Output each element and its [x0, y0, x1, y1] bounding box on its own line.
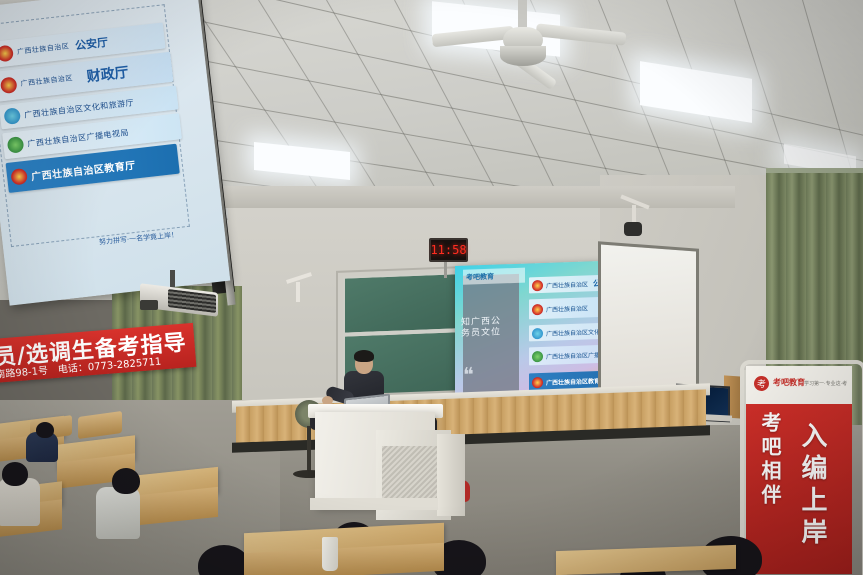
national-emblem-icon: [532, 376, 543, 387]
ceiling-fan-stem: [518, 0, 527, 30]
agency-name: 财政厅: [86, 62, 130, 87]
banner-slogan-right: 入编上岸: [794, 422, 831, 550]
slide-sidebar-title: 知广西公务员文位: [461, 316, 507, 340]
agency-name: 广西壮族自治区教育厅: [30, 156, 136, 183]
lecture-hall-photo: 广西壮族自治区 公安厅 广西壮族自治区 财政厅 广西壮族自治区文化和旅游厅 广西…: [0, 0, 863, 575]
wall-hook-post: [296, 282, 300, 302]
national-emblem-icon: [0, 76, 18, 94]
student-head: [36, 422, 54, 438]
banner-body: 考吧相伴 入编上岸: [746, 404, 852, 574]
agency-small-text: 广西壮族自治区: [546, 279, 588, 289]
agency-name: 广西壮族自治区广播电视局: [27, 127, 130, 149]
radio-tv-logo-icon: [532, 350, 543, 361]
quote-mark-icon: ❝: [463, 369, 474, 381]
brand-logo-icon: 考: [754, 376, 769, 391]
presenter-hair: [354, 350, 374, 362]
ceiling-fan-cap: [500, 46, 546, 66]
tourism-logo-icon: [532, 327, 543, 338]
national-emblem-icon: [0, 45, 14, 63]
podium-cabinet-side: [437, 434, 465, 516]
agency-name: 公安厅: [74, 34, 109, 54]
radio-tv-logo-icon: [7, 136, 25, 154]
national-emblem-icon: [532, 279, 543, 290]
brand-tagline: 学习第一·专业这·考: [804, 380, 847, 387]
projector-lens-icon: [140, 300, 158, 310]
student-head: [112, 468, 140, 494]
national-emblem-icon: [10, 168, 28, 186]
paper-cup: [322, 537, 338, 571]
student-torso: [96, 487, 140, 539]
banner-slogan-left: 考吧相伴: [756, 412, 785, 508]
slide-logo: 考吧教育: [463, 268, 525, 285]
agency-small-text: 广西壮族自治区: [546, 303, 588, 313]
led-wall-clock: 11:58: [429, 238, 468, 262]
agency-name: 广西壮族自治区教育厅: [546, 375, 606, 386]
agency-small-text: 广西壮族自治区: [16, 41, 69, 57]
ceiling-grid-line: [150, 50, 863, 193]
clock-display: 11:58: [430, 243, 466, 257]
overhead-projection-banner: 广西壮族自治区 公安厅 广西壮族自治区 财政厅 广西壮族自治区文化和旅游厅 广西…: [0, 0, 230, 306]
curtain-rod: [766, 168, 863, 173]
student-head: [2, 462, 28, 486]
national-emblem-icon: [532, 303, 543, 314]
pedestal-fan-pole: [307, 426, 311, 474]
banner-header-area: 考 考吧教育 学习第一·专业这·考: [746, 366, 852, 404]
agency-small-text: 广西壮族自治区: [20, 73, 73, 89]
wall-camera-icon: [624, 222, 642, 236]
podium-base: [310, 498, 438, 510]
tourism-logo-icon: [3, 107, 21, 125]
slide-logo-text: 考吧教育: [466, 271, 494, 282]
wall-soffit: [215, 186, 735, 208]
brand-name: 考吧教育: [773, 377, 805, 388]
roll-up-standing-banner: 考 考吧教育 学习第一·专业这·考 考吧相伴 入编上岸: [740, 360, 863, 575]
